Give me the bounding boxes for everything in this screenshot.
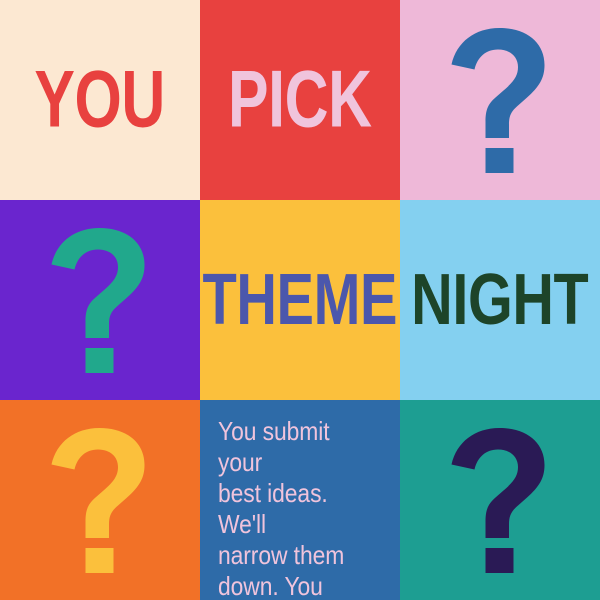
cell-question-mark-blue [400, 0, 600, 200]
word-you: YOU [35, 60, 166, 141]
cell-question-mark-navy [400, 400, 600, 600]
cell-paragraph: You submit your best ideas. We'll narrow… [200, 400, 400, 600]
question-mark-icon [45, 228, 155, 373]
cell-question-mark-yellow [0, 400, 200, 600]
cell-theme: THEME [200, 200, 400, 400]
paragraph-text: You submit your best ideas. We'll narrow… [218, 416, 368, 600]
poster-canvas: YOU PICK THEME NIGHT [0, 0, 600, 600]
word-pick: PICK [228, 60, 372, 141]
cell-you: YOU [0, 0, 200, 200]
question-mark-icon [445, 428, 555, 573]
cell-night: NIGHT [400, 200, 600, 400]
word-night: NIGHT [411, 264, 588, 336]
question-mark-icon [445, 28, 555, 173]
cell-pick: PICK [200, 0, 400, 200]
word-theme: THEME [203, 264, 398, 336]
cell-question-mark-teal [0, 200, 200, 400]
poster-grid: YOU PICK THEME NIGHT [0, 0, 600, 600]
question-mark-icon [45, 428, 155, 573]
